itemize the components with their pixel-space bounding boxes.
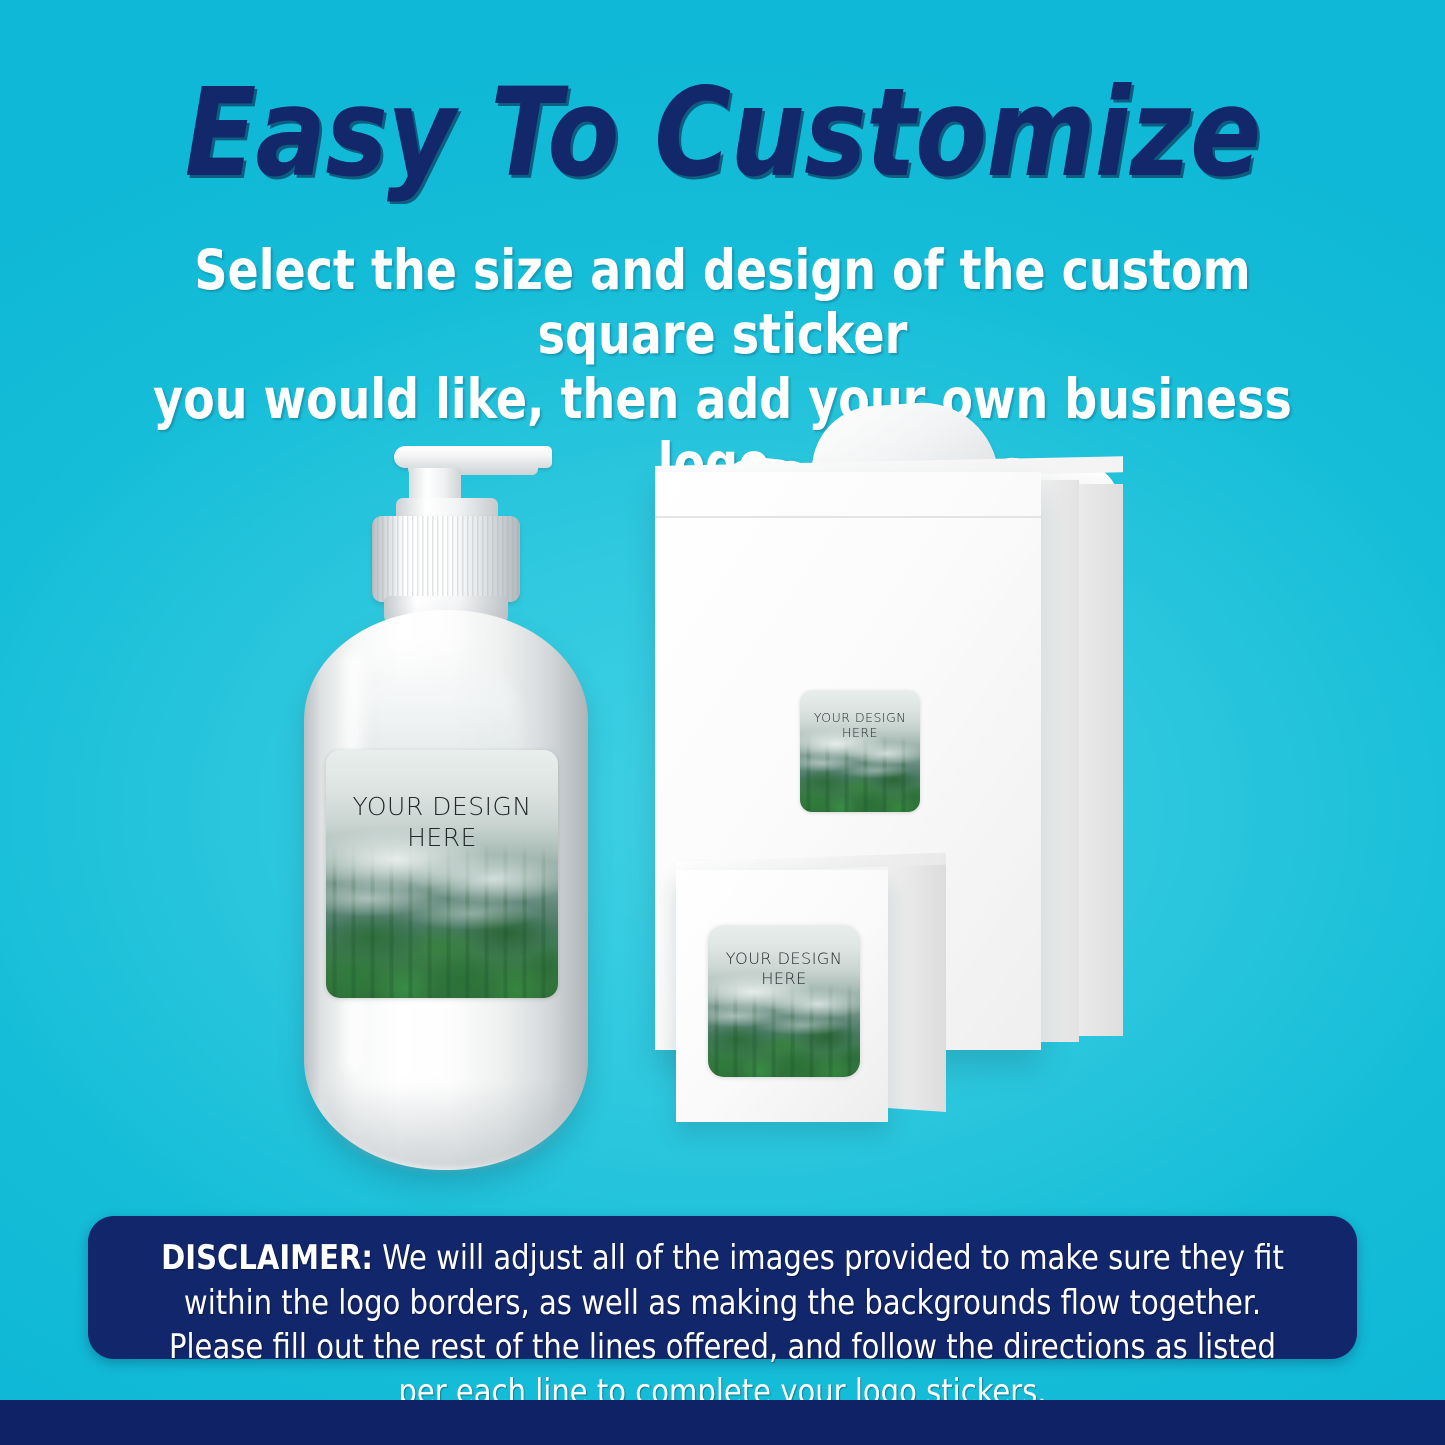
gift-box-sticker-text: YOUR DESIGN HERE	[800, 710, 920, 741]
disclaimer-label: DISCLAIMER:	[161, 1238, 373, 1278]
promo-graphic: Easy To Customize Select the size and de…	[0, 0, 1445, 1445]
gift-box-sticker: YOUR DESIGN HERE	[800, 690, 920, 812]
small-box-sticker: YOUR DESIGN HERE	[708, 925, 860, 1077]
bottle-base-shading	[324, 1082, 568, 1170]
gift-box-side-panel	[1041, 480, 1079, 1042]
disclaimer-box: DISCLAIMER: We will adjust all of the im…	[88, 1216, 1357, 1359]
small-box-side-panel	[888, 860, 946, 1112]
bottle-sticker-label: YOUR DESIGN HERE	[326, 750, 558, 998]
small-product-box: YOUR DESIGN HERE	[676, 860, 966, 1130]
gift-box-lid-seam	[655, 516, 1041, 518]
small-box-sticker-text: YOUR DESIGN HERE	[708, 949, 860, 988]
bottle-sticker-text: YOUR DESIGN HERE	[326, 792, 558, 853]
subtitle-line-1: Select the size and design of the custom…	[139, 238, 1306, 367]
bottom-navy-band	[0, 1400, 1445, 1445]
pump-ribbed-cap	[372, 516, 520, 602]
page-title: Easy To Customize	[101, 72, 1344, 194]
disclaimer-text: DISCLAIMER: We will adjust all of the im…	[154, 1236, 1291, 1414]
pump-soap-bottle: YOUR DESIGN HERE	[296, 432, 596, 1172]
gift-box-far-side-panel	[1079, 484, 1123, 1036]
